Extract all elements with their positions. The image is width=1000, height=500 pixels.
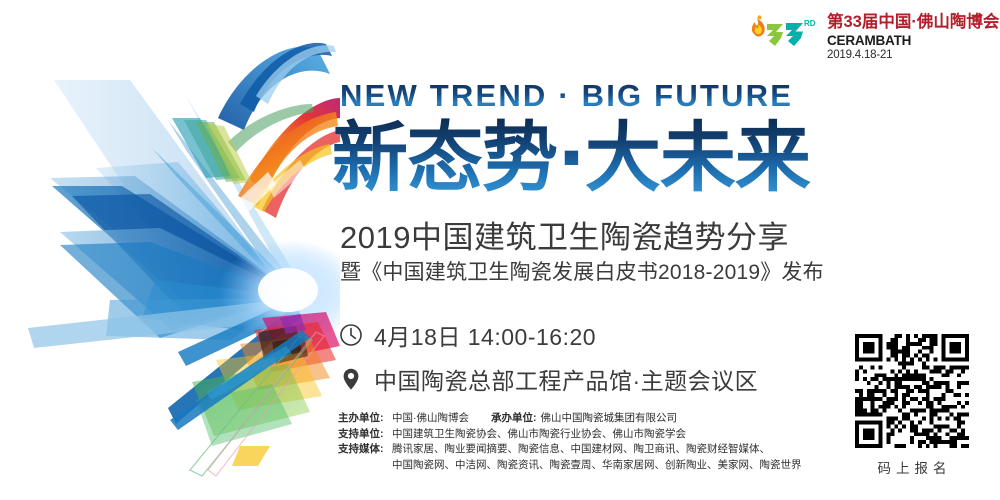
media-value-line1: 腾讯家居、陶业要闻摘要、陶瓷信息、中国建材网、陶卫商讯、陶瓷财经智媒体、 xyxy=(392,442,770,458)
qr-code[interactable] xyxy=(855,334,969,448)
headline-chinese: 新态势·大未来 xyxy=(332,112,842,197)
headline-english: NEW TREND · BIG FUTURE xyxy=(340,79,840,113)
organizer-value: 中国·佛山陶博会 xyxy=(392,411,469,427)
undertaker-value: 佛山中国陶瓷城集团有限公司 xyxy=(541,411,678,427)
event-venue-row: 中国陶瓷总部工程产品馆·主题会议区 xyxy=(338,362,758,396)
organizer-label: 主办单位: xyxy=(338,411,392,427)
credits-block: 主办单位: 中国·佛山陶博会 承办单位: 佛山中国陶瓷城集团有限公司 支持单位:… xyxy=(338,411,838,473)
media-label: 支持媒体: xyxy=(338,442,392,458)
exhibition-logo: RD 第33届中国·佛山陶博会 CERAMBATH 2019.4.18-21 xyxy=(745,12,995,64)
credit-line-organizer: 主办单位: 中国·佛山陶博会 承办单位: 佛山中国陶瓷城集团有限公司 xyxy=(338,411,838,427)
supporter-label: 支持单位: xyxy=(338,427,392,443)
event-venue-text: 中国陶瓷总部工程产品馆·主题会议区 xyxy=(374,362,758,396)
subtitle-secondary: 暨《中国建筑卫生陶瓷发展白皮书2018-2019》发布 xyxy=(340,256,824,286)
logo-edition-title: 第33届中国·佛山陶博会 xyxy=(827,13,999,32)
logo-text-group: 第33届中国·佛山陶博会 CERAMBATH 2019.4.18-21 xyxy=(827,12,999,62)
subtitle-primary: 2019中国建筑卫生陶瓷趋势分享 xyxy=(340,212,789,257)
headline-chinese-text: 新态势·大未来 xyxy=(332,113,811,200)
event-time-text: 4月18日 14:00-16:20 xyxy=(374,318,596,352)
logo-brand-name: CERAMBATH xyxy=(827,33,999,48)
location-pin-icon xyxy=(338,366,364,392)
media-value-line2: 中国陶瓷网、中洁网、陶瓷资讯、陶瓷壹周、华南家居网、创新陶业、美家网、陶瓷世界 xyxy=(338,458,838,474)
event-time-row: 4月18日 14:00-16:20 xyxy=(338,318,596,352)
flame-icon xyxy=(752,15,765,36)
logo-ordinal-suffix: RD xyxy=(804,19,816,28)
poster-canvas: RD 第33届中国·佛山陶博会 CERAMBATH 2019.4.18-21 N… xyxy=(0,0,1000,500)
supporter-value: 中国建筑卫生陶瓷协会、佛山市陶瓷行业协会、佛山市陶瓷学会 xyxy=(392,427,686,443)
logo-numeral-3-green xyxy=(767,24,783,46)
cerambath-logo-mark: RD xyxy=(745,12,823,52)
undertaker-label: 承办单位: xyxy=(491,411,537,427)
credit-line-media: 支持媒体: 腾讯家居、陶业要闻摘要、陶瓷信息、中国建材网、陶卫商讯、陶瓷财经智媒… xyxy=(338,442,838,458)
headline-english-text: NEW TREND · BIG FUTURE xyxy=(340,79,793,113)
credit-line-supporter: 支持单位: 中国建筑卫生陶瓷协会、佛山市陶瓷行业协会、佛山市陶瓷学会 xyxy=(338,427,838,443)
logo-numeral-3-teal xyxy=(786,23,803,46)
qr-caption: 码上报名 xyxy=(853,457,971,477)
abstract-burst-graphic xyxy=(0,0,340,500)
qr-registration-block[interactable]: 码上报名 xyxy=(853,334,971,477)
logo-event-dates: 2019.4.18-21 xyxy=(827,49,999,62)
clock-icon xyxy=(338,322,364,348)
